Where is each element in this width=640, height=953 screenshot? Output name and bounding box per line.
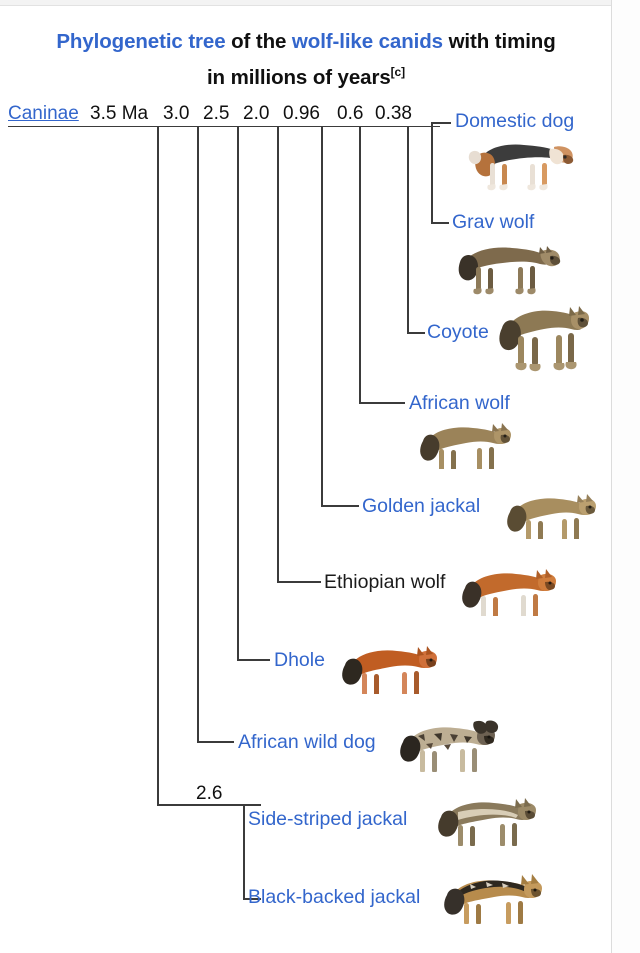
taxon-image-ethiopian-wolf: [455, 562, 561, 616]
taxon-label-ethiopian-wolf: Ethiopian wolf: [324, 571, 445, 593]
taxon-label-golden-jackal[interactable]: Golden jackal: [362, 495, 480, 517]
taxon-image-dhole: [334, 638, 442, 694]
taxon-label-dhole[interactable]: Dhole: [274, 649, 325, 671]
caption-text-of-the: of the: [226, 30, 292, 53]
branch-vertical-node-3.0: [197, 126, 199, 743]
taxon-image-african-wolf: [413, 415, 517, 469]
branch-vertical-root-3.5: [157, 126, 159, 806]
taxon-label-side-striped-jackal[interactable]: Side-striped jackal: [248, 808, 407, 830]
page-right-border: [611, 0, 612, 953]
timescale-tick-label-3.5: 3.5 Ma: [90, 103, 148, 125]
taxon-label-coyote[interactable]: Coyote: [427, 321, 489, 343]
branch-vertical-node-2.6: [243, 804, 245, 900]
taxon-image-coyote: [494, 294, 590, 372]
branch-vertical-node-2.5: [237, 126, 239, 661]
node-label-2.6: 2.6: [196, 783, 222, 805]
caption-text-with-timing: with timing: [443, 30, 556, 53]
branch-horizontal-african-wild-dog: [197, 741, 234, 743]
branch-vertical-node-0.38: [407, 126, 409, 334]
timescale-tick-label-0.96: 0.96: [283, 103, 320, 125]
taxon-label-african-wolf[interactable]: African wolf: [409, 392, 510, 414]
taxon-label-african-wild-dog[interactable]: African wild dog: [238, 731, 376, 753]
branch-horizontal-coyote: [407, 332, 425, 334]
figure-caption: Phylogenetic tree of the wolf-like canid…: [8, 26, 604, 93]
taxon-image-black-backed-jackal: [436, 866, 548, 924]
page-top-rule: [0, 0, 612, 6]
branch-vertical-node-0.6: [359, 126, 361, 404]
caption-footnote-marker[interactable]: [c]: [391, 65, 405, 79]
timescale-axis-line: [8, 126, 440, 127]
branch-horizontal-ethiopian-wolf: [277, 581, 321, 583]
branch-horizontal-domestic-dog: [431, 122, 451, 124]
branch-horizontal-african-wolf: [359, 402, 405, 404]
taxon-label-domestic-dog[interactable]: Domestic dog: [455, 110, 574, 132]
taxon-image-african-wild-dog: [392, 714, 500, 772]
branch-horizontal-dhole: [237, 659, 270, 661]
timescale-tick-label-2.5: 2.5: [203, 103, 229, 125]
timescale-root-label-caninae[interactable]: Caninae: [8, 103, 79, 125]
taxon-label-black-backed-jackal[interactable]: Black-backed jackal: [248, 886, 420, 908]
taxon-image-domestic-dog: [464, 133, 576, 195]
branch-vertical-dog-wolf-split: [431, 122, 433, 224]
branch-horizontal-gray-wolf: [431, 222, 449, 224]
timescale-tick-label-0.6: 0.6: [337, 103, 363, 125]
timescale-tick-label-3.0: 3.0: [163, 103, 189, 125]
caption-link-wolf-like-canids[interactable]: wolf-like canids: [292, 30, 443, 53]
caption-text-in-millions-of-years: in millions of years: [207, 66, 391, 89]
timescale-tick-label-2.0: 2.0: [243, 103, 269, 125]
taxon-label-gray-wolf[interactable]: Grav wolf: [452, 211, 534, 233]
timescale-tick-label-0.38: 0.38: [375, 103, 412, 125]
taxon-image-golden-jackal: [500, 487, 602, 539]
branch-horizontal-side-striped-jackal: [243, 804, 261, 806]
taxon-image-gray-wolf: [446, 234, 562, 296]
taxon-image-side-striped-jackal: [430, 790, 542, 846]
caption-link-phylogenetic-tree[interactable]: Phylogenetic tree: [56, 30, 225, 53]
branch-horizontal-golden-jackal: [321, 505, 359, 507]
branch-vertical-node-0.96: [321, 126, 323, 507]
page-right-margin: [612, 0, 640, 953]
branch-vertical-node-2.0: [277, 126, 279, 583]
phylogenetic-tree-figure: Phylogenetic tree of the wolf-like canid…: [0, 0, 640, 953]
